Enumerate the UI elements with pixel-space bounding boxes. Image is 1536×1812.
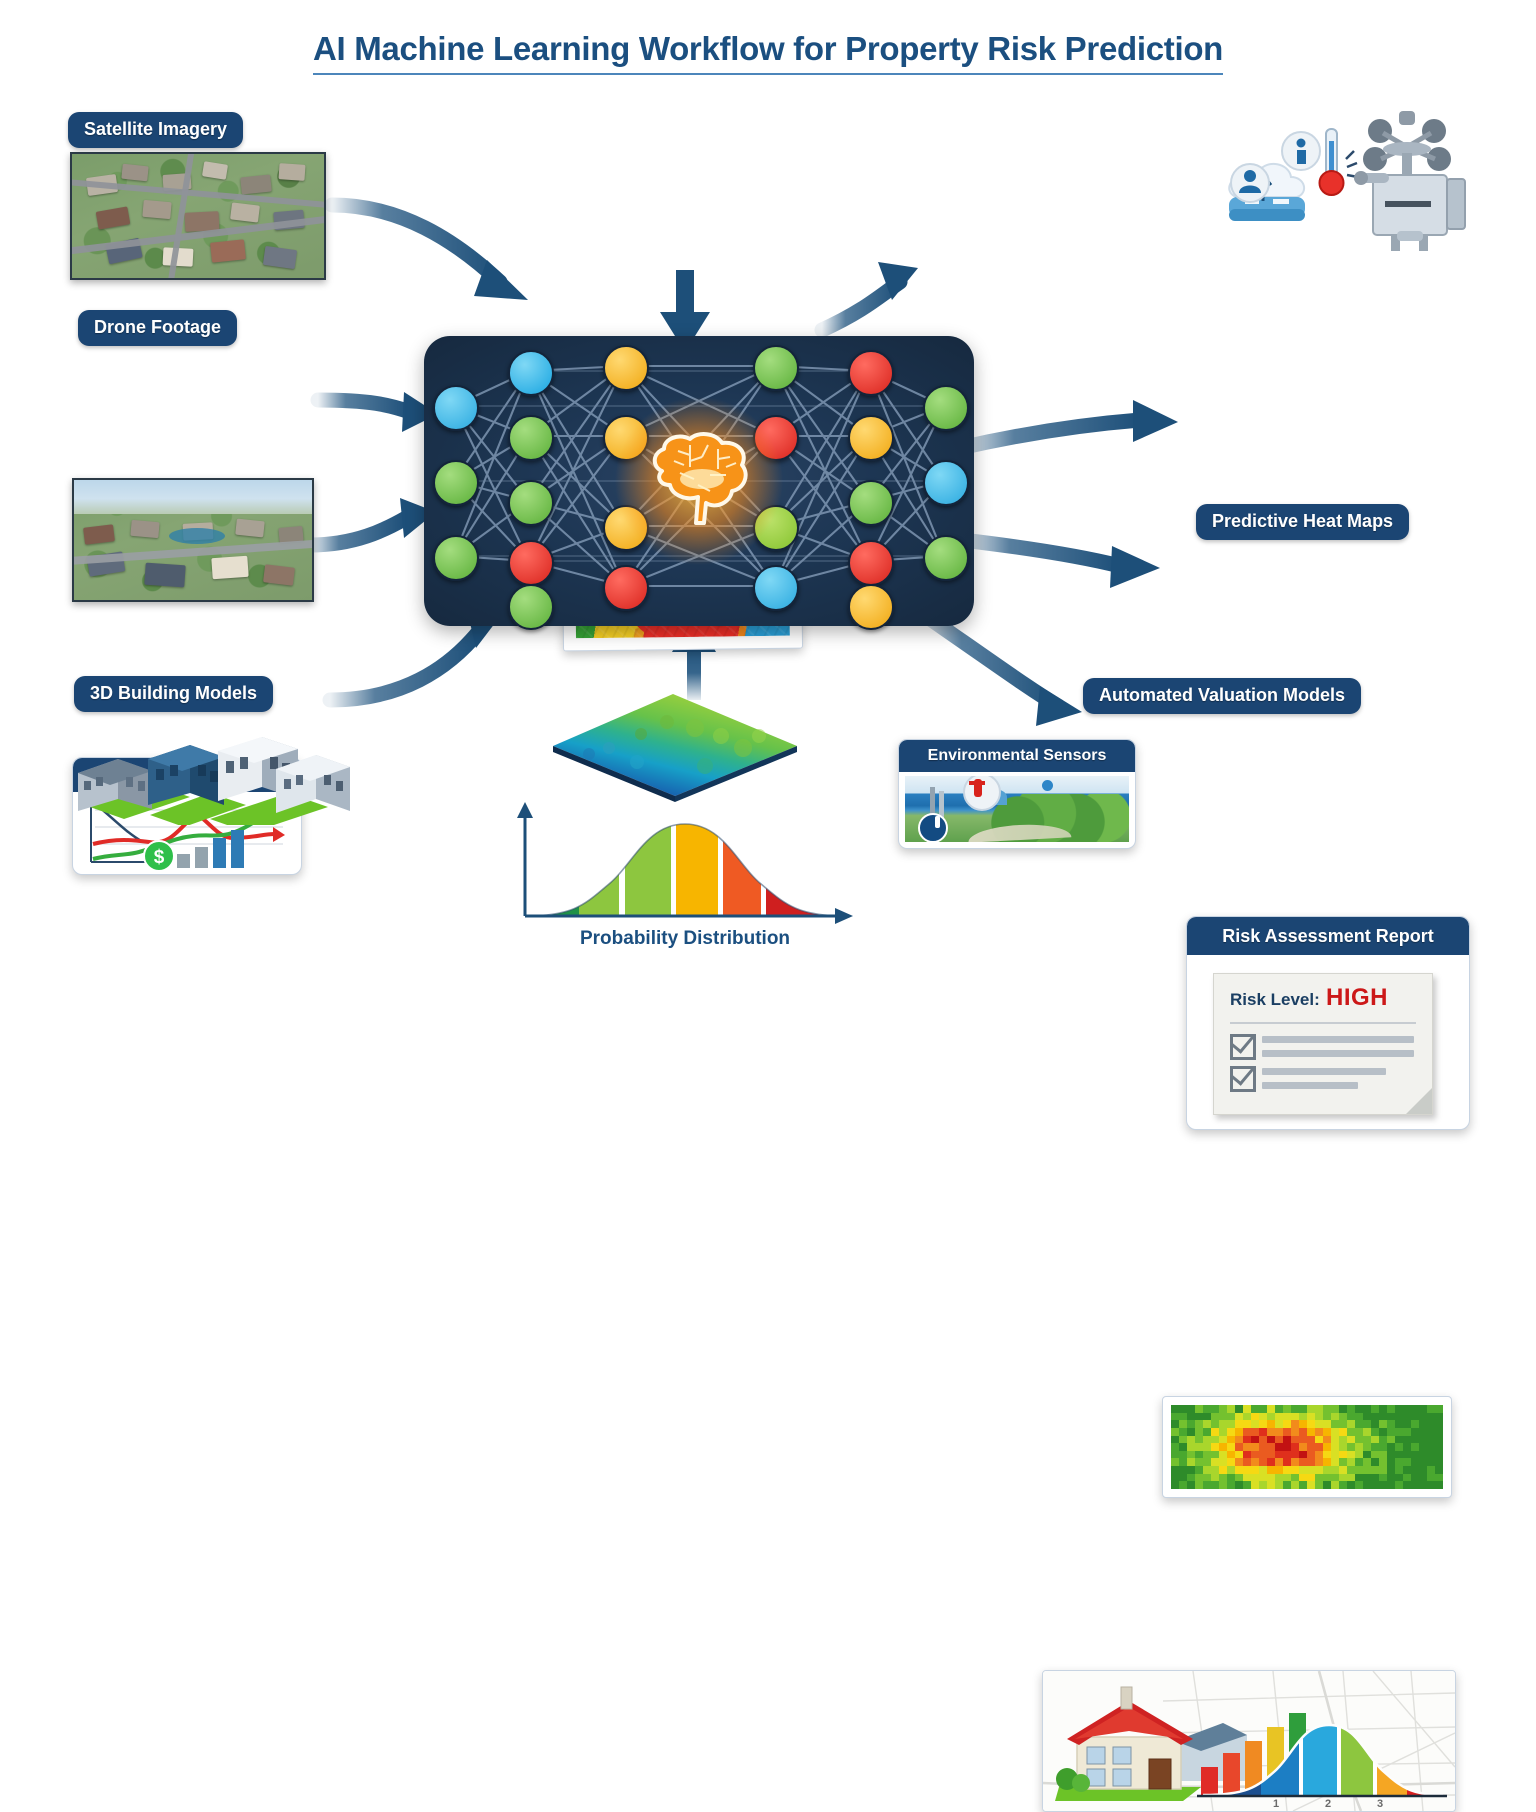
- heatmap-cell: [1299, 1420, 1307, 1428]
- heatmap-cell: [1339, 1413, 1347, 1421]
- satellite-imagery-label: Satellite Imagery: [68, 112, 243, 148]
- heatmap-cell: [1283, 1443, 1291, 1451]
- brain-glow: [614, 396, 784, 566]
- heatmap-cell: [1307, 1443, 1315, 1451]
- nn-node: [508, 584, 554, 630]
- heatmap-cell: [1267, 1466, 1275, 1474]
- heatmap-cell: [1235, 1443, 1243, 1451]
- heatmap-cell: [1379, 1436, 1387, 1444]
- avm-chart-illustration: 1 2 3: [1051, 1679, 1451, 1807]
- heatmap-cell: [1251, 1451, 1259, 1459]
- heatmap-cell: [1403, 1413, 1411, 1421]
- heatmap-cell: [1275, 1458, 1283, 1466]
- heatmap-cell: [1339, 1436, 1347, 1444]
- heatmap-cell: [1347, 1428, 1355, 1436]
- heatmap-cell: [1219, 1428, 1227, 1436]
- heatmap-cell: [1171, 1405, 1179, 1413]
- heatmap-cell: [1403, 1466, 1411, 1474]
- heatmap-cell: [1179, 1420, 1187, 1428]
- heatmap-cell: [1275, 1405, 1283, 1413]
- heatmap-cell: [1219, 1443, 1227, 1451]
- heatmap-cell: [1339, 1466, 1347, 1474]
- heatmap-cell: [1411, 1458, 1419, 1466]
- heatmap-cell: [1427, 1451, 1435, 1459]
- heatmap-cell: [1243, 1466, 1251, 1474]
- heatmap-cell: [1195, 1420, 1203, 1428]
- heatmap-cell: [1211, 1474, 1219, 1482]
- heatmap-cell: [1299, 1474, 1307, 1482]
- nn-node: [508, 350, 554, 396]
- nn-node: [848, 480, 894, 526]
- heatmap-cell: [1275, 1474, 1283, 1482]
- heatmap-cell: [1347, 1405, 1355, 1413]
- nn-node: [923, 535, 969, 581]
- heatmap-cell: [1411, 1420, 1419, 1428]
- heatmap-cell: [1179, 1451, 1187, 1459]
- heatmap-cell: [1251, 1443, 1259, 1451]
- heatmap-cell: [1307, 1458, 1315, 1466]
- heatmap-cell: [1283, 1466, 1291, 1474]
- svg-text:$: $: [154, 847, 165, 868]
- heatmap-cell: [1291, 1466, 1299, 1474]
- avm-tick-3: 3: [1377, 1798, 1383, 1807]
- input-satellite-imagery[interactable]: Satellite Imagery: [68, 112, 243, 148]
- heatmap-cell: [1323, 1481, 1331, 1489]
- heatmap-cell: [1411, 1413, 1419, 1421]
- heatmap-cell: [1203, 1466, 1211, 1474]
- heatmap-cell: [1259, 1481, 1267, 1489]
- heatmap-cell: [1315, 1413, 1323, 1421]
- heatmap-cell: [1187, 1413, 1195, 1421]
- heatmap-cell: [1267, 1428, 1275, 1436]
- heatmap-cell: [1179, 1413, 1187, 1421]
- heatmap-cell: [1171, 1436, 1179, 1444]
- heatmap-cell: [1379, 1405, 1387, 1413]
- heatmap-cell: [1179, 1428, 1187, 1436]
- heatmap-cell: [1283, 1413, 1291, 1421]
- risk-assessment-report-label: Risk Assessment Report: [1187, 917, 1469, 955]
- heatmap-cell: [1371, 1443, 1379, 1451]
- heatmap-cell: [1331, 1420, 1339, 1428]
- heatmap-cell: [1371, 1451, 1379, 1459]
- heatmap-cell: [1355, 1436, 1363, 1444]
- heatmap-cell: [1291, 1458, 1299, 1466]
- heatmap-cell: [1387, 1481, 1395, 1489]
- heatmap-cell: [1171, 1420, 1179, 1428]
- heatmap-cell: [1227, 1428, 1235, 1436]
- heatmap-cell: [1315, 1474, 1323, 1482]
- heatmap-cell: [1387, 1405, 1395, 1413]
- heatmap-cell: [1427, 1466, 1435, 1474]
- heatmap-cell: [1419, 1420, 1427, 1428]
- drone-footage-label: Drone Footage: [78, 310, 237, 346]
- heatmap-cell: [1355, 1474, 1363, 1482]
- heatmap-cell: [1371, 1466, 1379, 1474]
- heatmap-cell: [1363, 1405, 1371, 1413]
- heatmap-cell: [1371, 1481, 1379, 1489]
- heatmap-cell: [1403, 1451, 1411, 1459]
- heatmap-cell: [1251, 1413, 1259, 1421]
- heatmap-cell: [1307, 1474, 1315, 1482]
- heatmap-cell: [1235, 1436, 1243, 1444]
- heatmap-cell: [1427, 1458, 1435, 1466]
- heatmap-cell: [1363, 1451, 1371, 1459]
- heatmap-cell: [1203, 1428, 1211, 1436]
- heatmap-cell: [1299, 1481, 1307, 1489]
- heatmap-cell: [1427, 1413, 1435, 1421]
- heatmap-cell: [1227, 1474, 1235, 1482]
- automated-valuation-models-art: 1 2 3: [1043, 1671, 1455, 1811]
- heatmap-cell: [1347, 1481, 1355, 1489]
- heatmap-cell: [1259, 1451, 1267, 1459]
- heatmap-cell: [1259, 1405, 1267, 1413]
- report-line: [1262, 1050, 1414, 1057]
- heatmap-cell: [1387, 1466, 1395, 1474]
- heatmap-cell: [1187, 1428, 1195, 1436]
- report-line: [1262, 1036, 1414, 1043]
- heatmap-cell: [1195, 1405, 1203, 1413]
- heatmap-cell: [1235, 1428, 1243, 1436]
- heatmap-cell: [1395, 1458, 1403, 1466]
- heatmap-cell: [1323, 1436, 1331, 1444]
- page-title: AI Machine Learning Workflow for Propert…: [0, 30, 1536, 68]
- nn-node: [753, 345, 799, 391]
- heatmap-cell: [1411, 1405, 1419, 1413]
- heatmap-cell: [1411, 1466, 1419, 1474]
- heatmap-cell: [1227, 1413, 1235, 1421]
- heatmap-cell: [1435, 1428, 1443, 1436]
- heatmap-cell: [1387, 1428, 1395, 1436]
- heatmap-cell: [1419, 1405, 1427, 1413]
- heatmap-cell: [1347, 1413, 1355, 1421]
- heatmap-cell: [1331, 1436, 1339, 1444]
- heatmap-cell: [1259, 1474, 1267, 1482]
- heatmap-cell: [1355, 1420, 1363, 1428]
- heatmap-cell: [1435, 1451, 1443, 1459]
- heatmap-cell: [1427, 1420, 1435, 1428]
- heatmap-cell: [1371, 1413, 1379, 1421]
- neural-network-model[interactable]: [424, 336, 974, 626]
- heatmap-cell: [1203, 1481, 1211, 1489]
- heatmap-cell: [1291, 1451, 1299, 1459]
- heatmap-cell: [1315, 1428, 1323, 1436]
- heatmap-cell: [1395, 1436, 1403, 1444]
- heatmap-cell: [1291, 1443, 1299, 1451]
- nn-node: [433, 460, 479, 506]
- report-document: Risk Level: HIGH: [1213, 973, 1433, 1115]
- heatmap-cell: [1387, 1443, 1395, 1451]
- heatmap-cell: [1259, 1428, 1267, 1436]
- heatmap-cell: [1355, 1458, 1363, 1466]
- heatmap-cell: [1331, 1428, 1339, 1436]
- heatmap-cell: [1243, 1474, 1251, 1482]
- heatmap-cell: [1283, 1451, 1291, 1459]
- nn-node: [433, 385, 479, 431]
- heatmap-cell: [1323, 1428, 1331, 1436]
- page-title-text: AI Machine Learning Workflow for Propert…: [313, 30, 1223, 75]
- heatmap-cell: [1243, 1436, 1251, 1444]
- predictive-heat-maps-label: Predictive Heat Maps: [1196, 504, 1409, 540]
- heatmap-cell: [1195, 1466, 1203, 1474]
- output-environmental-sensors[interactable]: Environmental Sensors: [898, 739, 1136, 849]
- heatmap-cell: [1219, 1436, 1227, 1444]
- heatmap-cell: [1395, 1443, 1403, 1451]
- heatmap-cell: [1331, 1458, 1339, 1466]
- heatmap-cell: [1171, 1413, 1179, 1421]
- heatmap-cell: [1411, 1436, 1419, 1444]
- heatmap-cell: [1259, 1413, 1267, 1421]
- heatmap-cell: [1339, 1443, 1347, 1451]
- nn-node: [508, 480, 554, 526]
- heatmap-cell: [1283, 1481, 1291, 1489]
- heatmap-cell: [1371, 1458, 1379, 1466]
- heatmap-cell: [1195, 1436, 1203, 1444]
- heatmap-cell: [1283, 1458, 1291, 1466]
- heatmap-cell: [1419, 1451, 1427, 1459]
- heatmap-cell: [1251, 1428, 1259, 1436]
- heatmap-cell: [1251, 1466, 1259, 1474]
- drone-footage-photo[interactable]: [72, 478, 314, 602]
- heatmap-cell: [1323, 1420, 1331, 1428]
- heatmap-cell: [1227, 1405, 1235, 1413]
- heatmap-cell: [1243, 1420, 1251, 1428]
- heatmap-cell: [1203, 1405, 1211, 1413]
- heatmap-cell: [1427, 1481, 1435, 1489]
- heatmap-cell: [1251, 1481, 1259, 1489]
- nn-node: [753, 565, 799, 611]
- heatmap-cell: [1235, 1481, 1243, 1489]
- heatmap-cell: [1291, 1420, 1299, 1428]
- heatmap-cell: [1171, 1458, 1179, 1466]
- heatmap-cell: [1347, 1436, 1355, 1444]
- heatmap-cell: [1227, 1481, 1235, 1489]
- 3d-building-models-label: 3D Building Models: [74, 676, 273, 712]
- heatmap-cell: [1187, 1451, 1195, 1459]
- heatmap-cell: [1171, 1451, 1179, 1459]
- heatmap-cell: [1195, 1451, 1203, 1459]
- nn-node: [848, 350, 894, 396]
- heatmap-cell: [1419, 1466, 1427, 1474]
- heatmap-cell: [1211, 1458, 1219, 1466]
- automated-valuation-models-label-wrap: Automated Valuation Models: [1083, 678, 1361, 714]
- heatmap-cell: [1283, 1405, 1291, 1413]
- heatmap-cell: [1371, 1405, 1379, 1413]
- checkbox-icon: [1230, 1034, 1256, 1060]
- heatmap-cell: [1427, 1474, 1435, 1482]
- heatmap-cell: [1283, 1428, 1291, 1436]
- heatmap-cell: [1323, 1451, 1331, 1459]
- heatmap-cell: [1227, 1443, 1235, 1451]
- heatmap-cell: [1219, 1481, 1227, 1489]
- heatmap-cell: [1171, 1443, 1179, 1451]
- lidar-terrain-tile: [545, 690, 805, 805]
- heatmap-cell: [1187, 1436, 1195, 1444]
- heatmap-cell: [1403, 1405, 1411, 1413]
- heatmap-cell: [1355, 1451, 1363, 1459]
- heatmap-cell: [1307, 1413, 1315, 1421]
- heatmap-cell: [1211, 1451, 1219, 1459]
- heatmap-cell: [1371, 1436, 1379, 1444]
- arrow-economic-to-model: [310, 498, 436, 545]
- heatmap-cell: [1323, 1443, 1331, 1451]
- heatmap-cell: [1267, 1458, 1275, 1466]
- environmental-sensors-art: [905, 776, 1129, 842]
- heatmap-cell: [1235, 1466, 1243, 1474]
- nn-node: [603, 565, 649, 611]
- heatmap-cell: [1371, 1474, 1379, 1482]
- automated-valuation-models-label: Automated Valuation Models: [1083, 678, 1361, 714]
- heatmap-cell: [1187, 1443, 1195, 1451]
- predictive-heat-map-image: [1171, 1405, 1443, 1489]
- satellite-imagery-photo[interactable]: [70, 152, 326, 280]
- heatmap-cell: [1275, 1443, 1283, 1451]
- heatmap-cell: [1323, 1413, 1331, 1421]
- heatmap-cell: [1283, 1436, 1291, 1444]
- environmental-sensors-label: Environmental Sensors: [899, 740, 1135, 772]
- heatmap-cell: [1331, 1413, 1339, 1421]
- heatmap-cell: [1179, 1481, 1187, 1489]
- heatmap-cell: [1411, 1451, 1419, 1459]
- heatmap-cell: [1211, 1466, 1219, 1474]
- nn-node: [923, 460, 969, 506]
- heatmap-cell: [1323, 1405, 1331, 1413]
- heatmap-cell: [1347, 1451, 1355, 1459]
- heatmap-cell: [1211, 1405, 1219, 1413]
- heatmap-cell: [1299, 1458, 1307, 1466]
- heatmap-cell: [1227, 1458, 1235, 1466]
- heatmap-cell: [1347, 1458, 1355, 1466]
- heatmap-cell: [1203, 1458, 1211, 1466]
- output-automated-valuation-models[interactable]: 1 2 3: [1042, 1670, 1456, 1812]
- heatmap-cell: [1219, 1405, 1227, 1413]
- heatmap-cell: [1379, 1451, 1387, 1459]
- heatmap-cell: [1203, 1436, 1211, 1444]
- heatmap-cell: [1307, 1436, 1315, 1444]
- heatmap-cell: [1403, 1458, 1411, 1466]
- heatmap-cell: [1363, 1413, 1371, 1421]
- heatmap-cell: [1219, 1451, 1227, 1459]
- heatmap-cell: [1387, 1420, 1395, 1428]
- heatmap-cell: [1379, 1413, 1387, 1421]
- heatmap-cell: [1195, 1481, 1203, 1489]
- input-3d-building-models[interactable]: 3D Building Models: [74, 676, 273, 712]
- heatmap-cell: [1219, 1458, 1227, 1466]
- heatmap-cell: [1355, 1428, 1363, 1436]
- heatmap-cell: [1363, 1420, 1371, 1428]
- heatmap-cell: [1211, 1420, 1219, 1428]
- heatmap-cell: [1235, 1458, 1243, 1466]
- heatmap-cell: [1419, 1428, 1427, 1436]
- heatmap-cell: [1203, 1451, 1211, 1459]
- heatmap-cell: [1347, 1474, 1355, 1482]
- heatmap-cell: [1419, 1458, 1427, 1466]
- heatmap-cell: [1195, 1474, 1203, 1482]
- heatmap-cell: [1403, 1428, 1411, 1436]
- heatmap-cell: [1235, 1413, 1243, 1421]
- output-predictive-heat-maps[interactable]: [1162, 1396, 1452, 1498]
- heatmap-cell: [1179, 1443, 1187, 1451]
- avm-tick-2: 2: [1325, 1798, 1331, 1807]
- arrow-drone-to-model: [318, 392, 438, 432]
- heatmap-cell: [1363, 1466, 1371, 1474]
- heatmap-cell: [1219, 1420, 1227, 1428]
- heatmap-cell: [1379, 1481, 1387, 1489]
- heatmap-cell: [1211, 1436, 1219, 1444]
- heatmap-cell: [1395, 1474, 1403, 1482]
- heatmap-cell: [1251, 1420, 1259, 1428]
- heatmap-cell: [1387, 1451, 1395, 1459]
- nn-node: [923, 385, 969, 431]
- heatmap-cell: [1259, 1420, 1267, 1428]
- predictive-heat-maps-label-wrap: Predictive Heat Maps: [1196, 504, 1409, 540]
- heatmap-cell: [1363, 1458, 1371, 1466]
- arrow-model-to-avm: [920, 612, 1082, 726]
- heatmap-cell: [1275, 1436, 1283, 1444]
- heatmap-cell: [1291, 1436, 1299, 1444]
- probability-distribution-chart: Probability Distribution: [505, 800, 865, 975]
- heatmap-cell: [1435, 1436, 1443, 1444]
- heatmap-cell: [1395, 1413, 1403, 1421]
- output-risk-assessment-report[interactable]: Risk Assessment Report Risk Level: HIGH: [1186, 916, 1470, 1130]
- heatmap-cell: [1355, 1413, 1363, 1421]
- heatmap-cell: [1355, 1443, 1363, 1451]
- heatmap-cell: [1227, 1436, 1235, 1444]
- heatmap-cell: [1171, 1466, 1179, 1474]
- heatmap-cell: [1411, 1443, 1419, 1451]
- heatmap-cell: [1187, 1458, 1195, 1466]
- heatmap-cell: [1275, 1428, 1283, 1436]
- heatmap-cell: [1275, 1466, 1283, 1474]
- heatmap-cell: [1371, 1428, 1379, 1436]
- heatmap-cell: [1187, 1466, 1195, 1474]
- report-line: [1262, 1068, 1386, 1075]
- heatmap-cell: [1331, 1474, 1339, 1482]
- heatmap-cell: [1267, 1474, 1275, 1482]
- heatmap-cell: [1363, 1428, 1371, 1436]
- heatmap-cell: [1395, 1405, 1403, 1413]
- heatmap-cell: [1395, 1466, 1403, 1474]
- heatmap-cell: [1411, 1428, 1419, 1436]
- report-check-1: [1230, 1034, 1256, 1060]
- heatmap-cell: [1435, 1413, 1443, 1421]
- heatmap-cell: [1339, 1481, 1347, 1489]
- arrow-model-to-heatmaps: [962, 540, 1160, 588]
- heatmap-cell: [1331, 1405, 1339, 1413]
- heatmap-cell: [1379, 1420, 1387, 1428]
- heatmap-cell: [1435, 1458, 1443, 1466]
- heatmap-cell: [1403, 1481, 1411, 1489]
- heatmap-cell: [1179, 1474, 1187, 1482]
- heatmap-cell: [1299, 1405, 1307, 1413]
- heatmap-cell: [1419, 1413, 1427, 1421]
- heatmap-cell: [1395, 1481, 1403, 1489]
- nn-node: [433, 535, 479, 581]
- heatmap-cell: [1195, 1458, 1203, 1466]
- heatmap-cell: [1379, 1428, 1387, 1436]
- heatmap-cell: [1259, 1466, 1267, 1474]
- heatmap-cell: [1235, 1420, 1243, 1428]
- heatmap-cell: [1251, 1436, 1259, 1444]
- heatmap-cell: [1299, 1413, 1307, 1421]
- heatmap-cell: [1243, 1428, 1251, 1436]
- heatmap-cell: [1363, 1474, 1371, 1482]
- nn-node: [848, 540, 894, 586]
- heatmap-cell: [1387, 1436, 1395, 1444]
- weather-station-illustration: [1215, 105, 1480, 255]
- heatmap-cell: [1323, 1466, 1331, 1474]
- heatmap-cell: [1347, 1443, 1355, 1451]
- input-drone-footage[interactable]: Drone Footage: [78, 310, 237, 346]
